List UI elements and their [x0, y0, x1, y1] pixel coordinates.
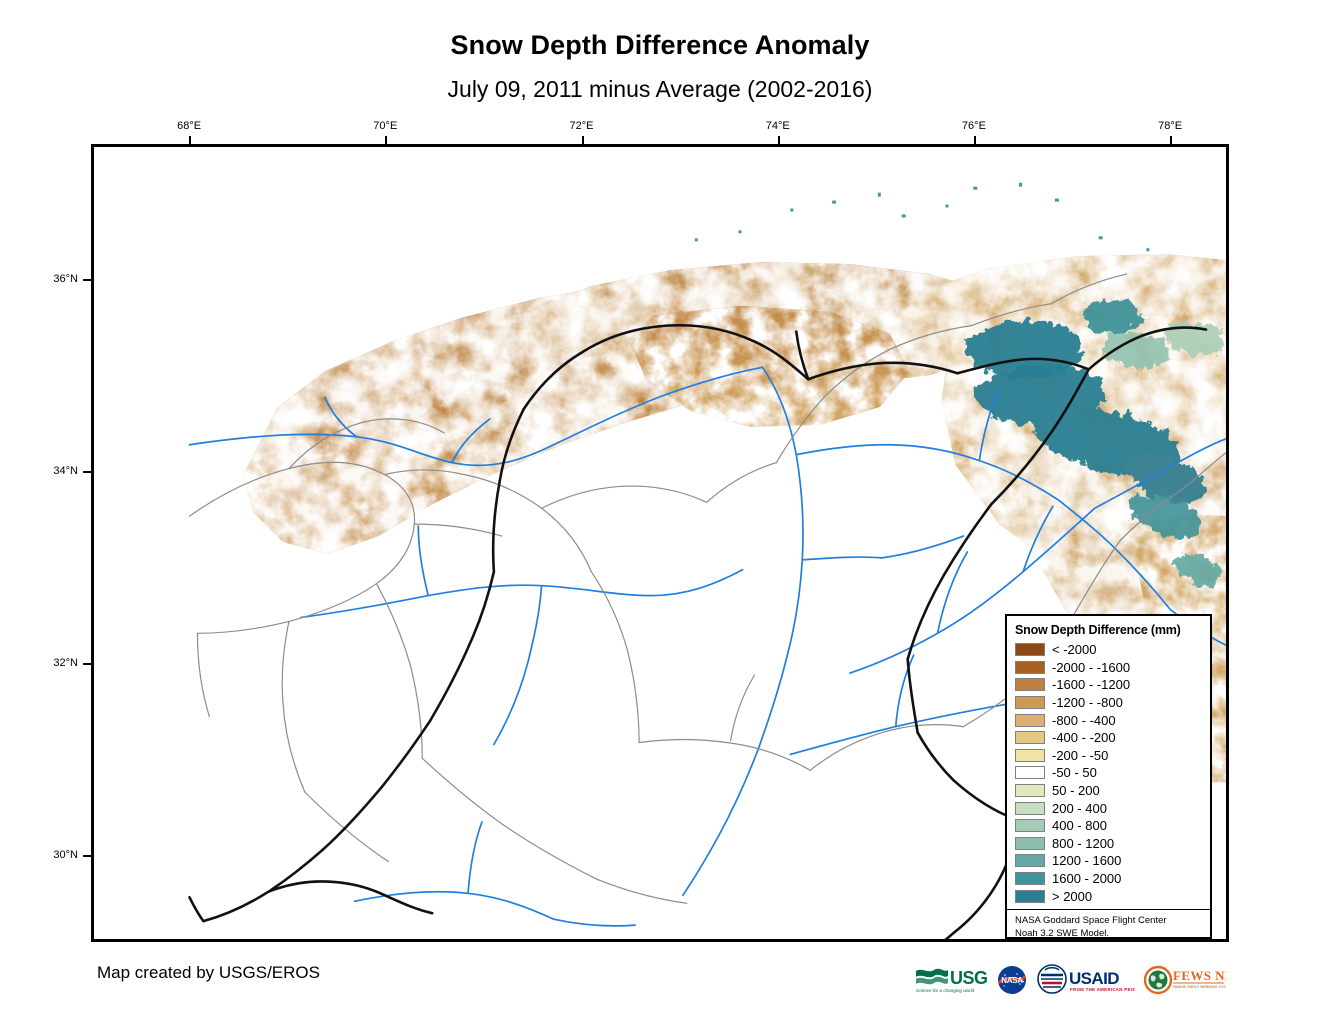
- legend-label: 1600 - 2000: [1052, 872, 1121, 885]
- page-title: Snow Depth Difference Anomaly: [0, 30, 1320, 61]
- legend-swatch: [1015, 696, 1045, 709]
- legend-row[interactable]: < -2000: [1015, 641, 1210, 659]
- attribution-line-1: NASA Goddard Space Flight Center: [1015, 915, 1210, 928]
- legend-row[interactable]: -2000 - -1600: [1015, 659, 1210, 677]
- legend-label: -800 - -400: [1052, 714, 1116, 727]
- legend-label: 50 - 200: [1052, 784, 1100, 797]
- legend-row[interactable]: -200 - -50: [1015, 747, 1210, 765]
- legend-label: -1200 - -800: [1052, 696, 1123, 709]
- usgs-logo: USGS science for a changing world: [915, 961, 987, 999]
- svg-text:USAID: USAID: [1069, 969, 1119, 988]
- svg-text:science for a changing world: science for a changing world: [916, 988, 975, 993]
- legend-swatch: [1015, 872, 1045, 885]
- legend-title: Snow Depth Difference (mm): [1015, 623, 1210, 637]
- legend-row[interactable]: -1200 - -800: [1015, 694, 1210, 712]
- legend-label: -1600 - -1200: [1052, 678, 1130, 691]
- legend-row[interactable]: 1200 - 1600: [1015, 852, 1210, 870]
- longitude-tick-label: 72°E: [570, 120, 594, 132]
- legend-attribution: NASA Goddard Space Flight Center Noah 3.…: [1015, 915, 1210, 941]
- legend-label: < -2000: [1052, 643, 1096, 656]
- longitude-tick: [385, 136, 387, 144]
- page-subtitle: July 09, 2011 minus Average (2002-2016): [0, 76, 1320, 103]
- longitude-tick-label: 78°E: [1158, 120, 1182, 132]
- latitude-tick: [83, 279, 91, 281]
- legend-label: > 2000: [1052, 890, 1092, 903]
- longitude-tick: [1170, 136, 1172, 144]
- legend-swatch: [1015, 749, 1045, 762]
- legend-swatch: [1015, 802, 1045, 815]
- legend-swatch: [1015, 819, 1045, 832]
- longitude-tick-label: 68°E: [177, 120, 201, 132]
- latitude-tick-label: 30°N: [53, 849, 78, 861]
- legend-row[interactable]: 1600 - 2000: [1015, 870, 1210, 888]
- legend-class-list: < -2000-2000 - -1600-1600 - -1200-1200 -…: [1015, 641, 1210, 905]
- legend-swatch: [1015, 661, 1045, 674]
- legend-label: -2000 - -1600: [1052, 661, 1130, 674]
- latitude-tick-label: 34°N: [53, 465, 78, 477]
- longitude-tick: [974, 136, 976, 144]
- svg-text:USGS: USGS: [950, 968, 987, 988]
- longitude-tick-label: 74°E: [766, 120, 790, 132]
- svg-text:FEWS NET: FEWS NET: [1173, 968, 1226, 983]
- legend-row[interactable]: 400 - 800: [1015, 817, 1210, 835]
- legend-label: 1200 - 1600: [1052, 854, 1121, 867]
- legend-label: 800 - 1200: [1052, 837, 1114, 850]
- svg-text:FAMINE EARLY WARNING SYSTEMS N: FAMINE EARLY WARNING SYSTEMS NETWORK: [1173, 985, 1226, 989]
- legend-row[interactable]: > 2000: [1015, 887, 1210, 905]
- teal-speckles: [695, 183, 1150, 251]
- nasa-logo: NASA: [996, 961, 1028, 999]
- legend-label: -200 - -50: [1052, 749, 1108, 762]
- legend-swatch: [1015, 643, 1045, 656]
- latitude-tick: [83, 471, 91, 473]
- legend-panel[interactable]: Snow Depth Difference (mm) < -2000-2000 …: [1005, 614, 1212, 939]
- longitude-tick-label: 76°E: [962, 120, 986, 132]
- latitude-tick: [83, 663, 91, 665]
- legend-row[interactable]: -50 - 50: [1015, 764, 1210, 782]
- legend-swatch: [1015, 678, 1045, 691]
- map-credit: Map created by USGS/EROS: [97, 963, 320, 983]
- legend-swatch: [1015, 854, 1045, 867]
- longitude-tick-label: 70°E: [373, 120, 397, 132]
- legend-label: -50 - 50: [1052, 766, 1097, 779]
- latitude-tick-label: 32°N: [53, 657, 78, 669]
- latitude-tick: [83, 855, 91, 857]
- usaid-logo: USAID FROM THE AMERICAN PEOPLE: [1037, 961, 1135, 999]
- legend-swatch: [1015, 731, 1045, 744]
- legend-swatch: [1015, 837, 1045, 850]
- longitude-tick: [189, 136, 191, 144]
- legend-row[interactable]: 800 - 1200: [1015, 835, 1210, 853]
- svg-text:FROM THE AMERICAN PEOPLE: FROM THE AMERICAN PEOPLE: [1070, 987, 1135, 992]
- legend-row[interactable]: 50 - 200: [1015, 782, 1210, 800]
- legend-row[interactable]: -800 - -400: [1015, 711, 1210, 729]
- legend-row[interactable]: 200 - 400: [1015, 799, 1210, 817]
- longitude-tick: [778, 136, 780, 144]
- legend-swatch: [1015, 784, 1045, 797]
- latitude-tick-label: 36°N: [53, 273, 78, 285]
- fewsnet-logo: FEWS NET FAMINE EARLY WARNING SYSTEMS NE…: [1144, 961, 1226, 999]
- logo-strip: USGS science for a changing world NASA: [915, 960, 1226, 1000]
- longitude-tick: [582, 136, 584, 144]
- legend-swatch: [1015, 766, 1045, 779]
- legend-row[interactable]: -1600 - -1200: [1015, 676, 1210, 694]
- legend-swatch: [1015, 890, 1045, 903]
- attribution-line-2: Noah 3.2 SWE Model.: [1015, 928, 1210, 941]
- map-page: Snow Depth Difference Anomaly July 09, 2…: [0, 0, 1320, 1020]
- legend-label: 400 - 800: [1052, 819, 1107, 832]
- legend-label: 200 - 400: [1052, 802, 1107, 815]
- legend-swatch: [1015, 714, 1045, 727]
- legend-label: -400 - -200: [1052, 731, 1116, 744]
- legend-divider: [1007, 909, 1210, 910]
- legend-row[interactable]: -400 - -200: [1015, 729, 1210, 747]
